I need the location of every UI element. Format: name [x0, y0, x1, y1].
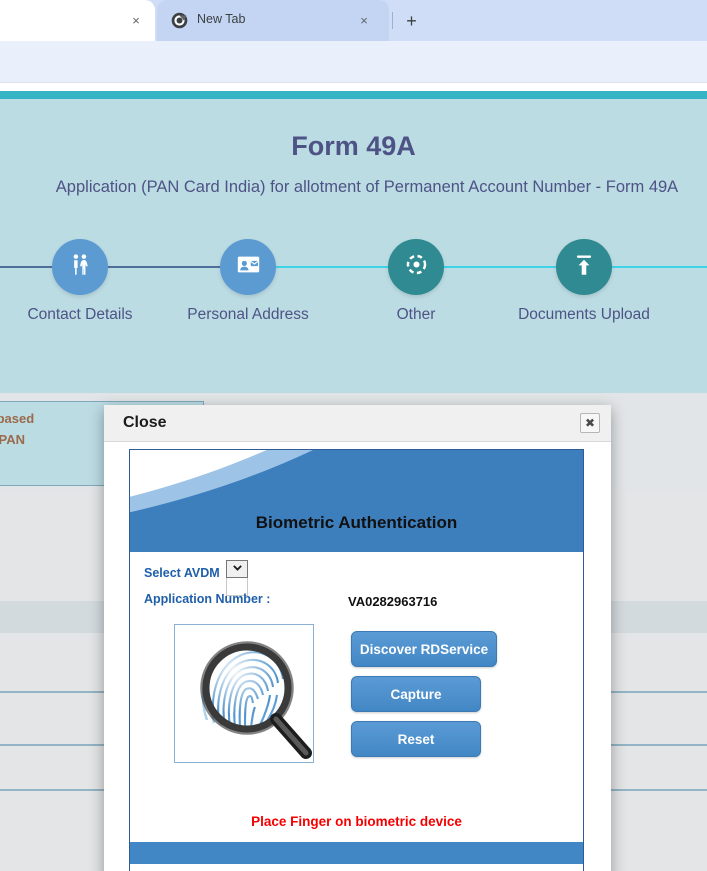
stepper-label-personal-address: Personal Address — [173, 304, 323, 325]
stepper-step-other[interactable] — [388, 239, 444, 295]
page-top-gap — [0, 83, 707, 91]
browser-tab-strip: × New Tab × + — [0, 0, 707, 41]
biometric-heading: Biometric Authentication — [130, 513, 583, 533]
stepper-step-documents-upload[interactable] — [556, 239, 612, 295]
aadhaar-notice-line-1: on ( Aadhaar based — [0, 411, 34, 426]
tab-close-icon[interactable]: × — [127, 12, 145, 30]
stepper-connector — [276, 266, 388, 268]
close-icon[interactable]: ✖ — [580, 413, 600, 433]
status-message: Place Finger on biometric device — [130, 814, 583, 829]
people-icon — [67, 252, 93, 283]
browser-tab-new-tab[interactable]: New Tab × — [157, 0, 389, 41]
fingerprint-magnifier-image — [174, 624, 314, 763]
aadhaar-notice-line-2: N Card and e-PAN — [0, 432, 25, 447]
modal-title: Close — [123, 414, 167, 432]
stepper-connector — [108, 266, 220, 268]
biometric-authentication-modal: Close ✖ Biometric Authentication Select … — [104, 405, 611, 871]
form-header-banner: Form 49A Application (PAN Card India) fo… — [0, 99, 707, 393]
stepper-label-other: Other — [341, 304, 491, 325]
select-avdm-dropdown[interactable] — [226, 560, 248, 578]
stepper-step-contact-details[interactable] — [52, 239, 108, 295]
stepper-label-documents-upload: Documents Upload — [509, 304, 659, 325]
upload-icon — [571, 252, 597, 283]
banner-graphic — [130, 450, 583, 552]
panel-footer-bar — [130, 842, 583, 864]
discover-rdservice-button[interactable]: Discover RDService — [351, 631, 497, 667]
page-title: Form 49A — [0, 131, 707, 162]
browser-tab-active[interactable]: × — [0, 0, 155, 41]
stepper-connector — [612, 266, 707, 268]
capture-button[interactable]: Capture — [351, 676, 481, 712]
biometric-panel: Biometric Authentication Select AVDM App… — [129, 449, 584, 871]
stepper-connector — [0, 266, 52, 268]
stepper-label-contact-details: Contact Details — [5, 304, 155, 325]
form-stepper: Contact Details Personal Address Other D… — [0, 219, 707, 339]
browser-tab-title: New Tab — [197, 12, 245, 26]
modal-header: Close ✖ — [104, 405, 611, 442]
top-accent-bar — [0, 91, 707, 99]
tab-close-icon[interactable]: × — [355, 11, 373, 29]
stepper-connector — [444, 266, 556, 268]
select-avdm-label: Select AVDM — [144, 566, 220, 580]
page-subtitle: Application (PAN Card India) for allotme… — [0, 178, 707, 197]
stepper-step-personal-address[interactable] — [220, 239, 276, 295]
application-number-label: Application Number : — [144, 592, 270, 606]
chevron-down-icon — [232, 560, 243, 578]
chrome-icon — [171, 12, 188, 29]
page-content: on ( Aadhaar based N Card and e-PAN Deta… — [0, 91, 707, 871]
browser-toolbar — [0, 41, 707, 83]
reset-button[interactable]: Reset — [351, 721, 481, 757]
new-tab-button[interactable]: + — [401, 10, 422, 31]
tab-divider — [392, 12, 393, 29]
target-scan-icon — [403, 251, 430, 283]
application-number-value: VA0282963716 — [348, 594, 437, 609]
id-card-icon — [235, 251, 262, 283]
